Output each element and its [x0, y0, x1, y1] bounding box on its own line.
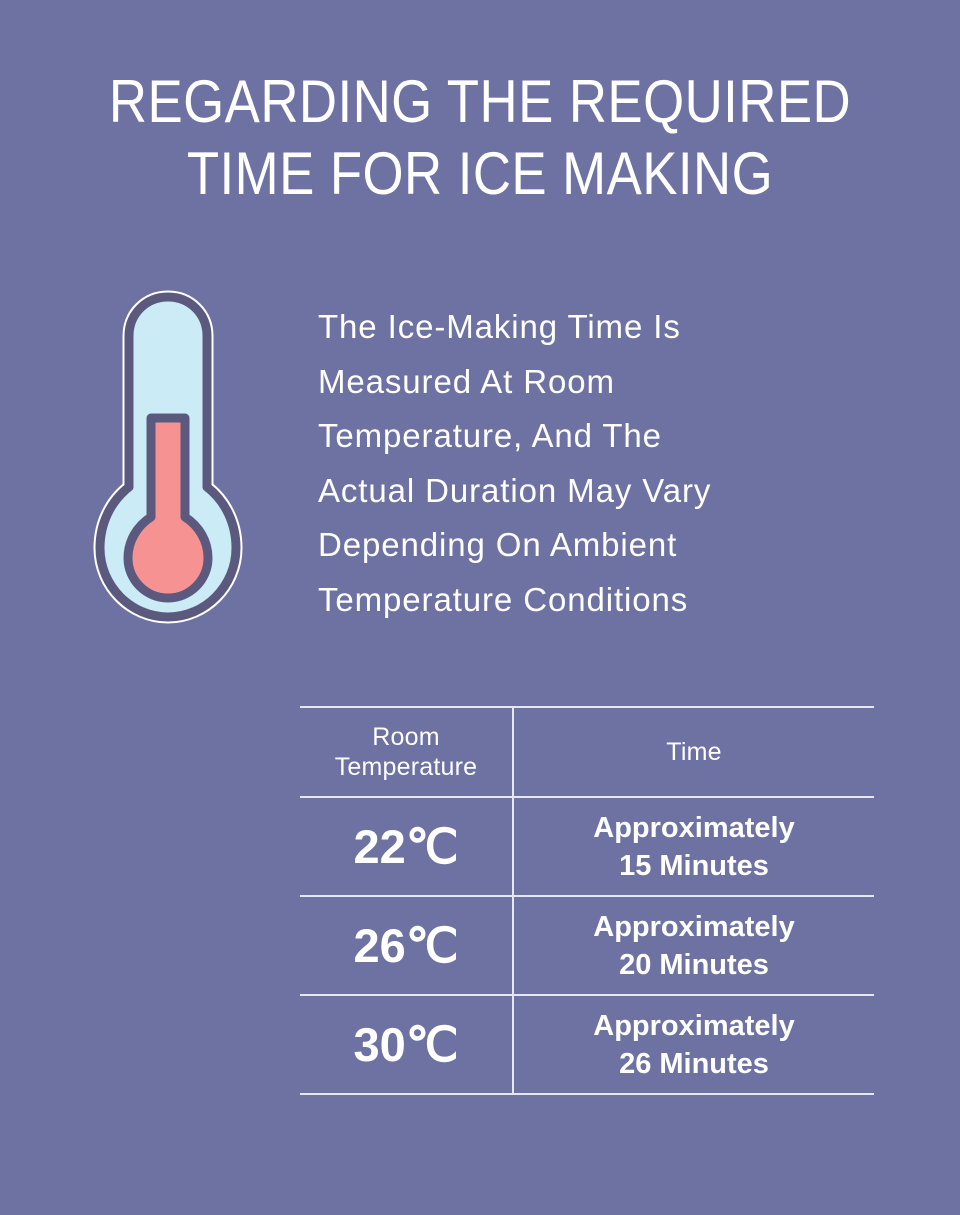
cell-time-line-2: 26 Minutes [514, 1045, 874, 1083]
column-header-room-temperature: Room Temperature [300, 707, 513, 797]
table-header-row: Room Temperature Time [300, 707, 874, 797]
cell-temperature: 26℃ [300, 896, 513, 995]
description-line-1: The Ice-Making Time Is [318, 300, 898, 355]
ice-making-time-table: Room Temperature Time 22℃ Approximately … [300, 706, 874, 1095]
cell-time-line-1: Approximately [514, 809, 874, 847]
table-row: 30℃ Approximately 26 Minutes [300, 995, 874, 1094]
cell-temperature: 22℃ [300, 797, 513, 896]
column-header-room-temperature-line-2: Temperature [300, 752, 512, 782]
description-line-2: Measured At Room [318, 355, 898, 410]
description-line-6: Temperature Conditions [318, 573, 898, 628]
cell-time: Approximately 26 Minutes [513, 995, 874, 1094]
cell-time-line-1: Approximately [514, 1007, 874, 1045]
cell-time: Approximately 15 Minutes [513, 797, 874, 896]
cell-temperature: 30℃ [300, 995, 513, 1094]
column-header-room-temperature-line-1: Room [300, 722, 512, 752]
description-line-4: Actual Duration May Vary [318, 464, 898, 519]
page-title: REGARDING THE REQUIRED TIME FOR ICE MAKI… [0, 66, 960, 210]
cell-time-line-1: Approximately [514, 908, 874, 946]
description-line-5: Depending On Ambient [318, 518, 898, 573]
column-header-time: Time [513, 707, 874, 797]
infographic-page: REGARDING THE REQUIRED TIME FOR ICE MAKI… [0, 0, 960, 1215]
cell-time: Approximately 20 Minutes [513, 896, 874, 995]
page-title-line-2: TIME FOR ICE MAKING [58, 138, 903, 210]
table-row: 22℃ Approximately 15 Minutes [300, 797, 874, 896]
table-row: 26℃ Approximately 20 Minutes [300, 896, 874, 995]
thermometer-icon-graphic [73, 288, 263, 628]
cell-time-line-2: 20 Minutes [514, 946, 874, 984]
cell-time-line-2: 15 Minutes [514, 847, 874, 885]
thermometer-icon [73, 288, 263, 628]
description-line-3: Temperature, And The [318, 409, 898, 464]
page-title-line-1: REGARDING THE REQUIRED [58, 66, 903, 138]
description-paragraph: The Ice-Making Time Is Measured At Room … [318, 300, 898, 627]
